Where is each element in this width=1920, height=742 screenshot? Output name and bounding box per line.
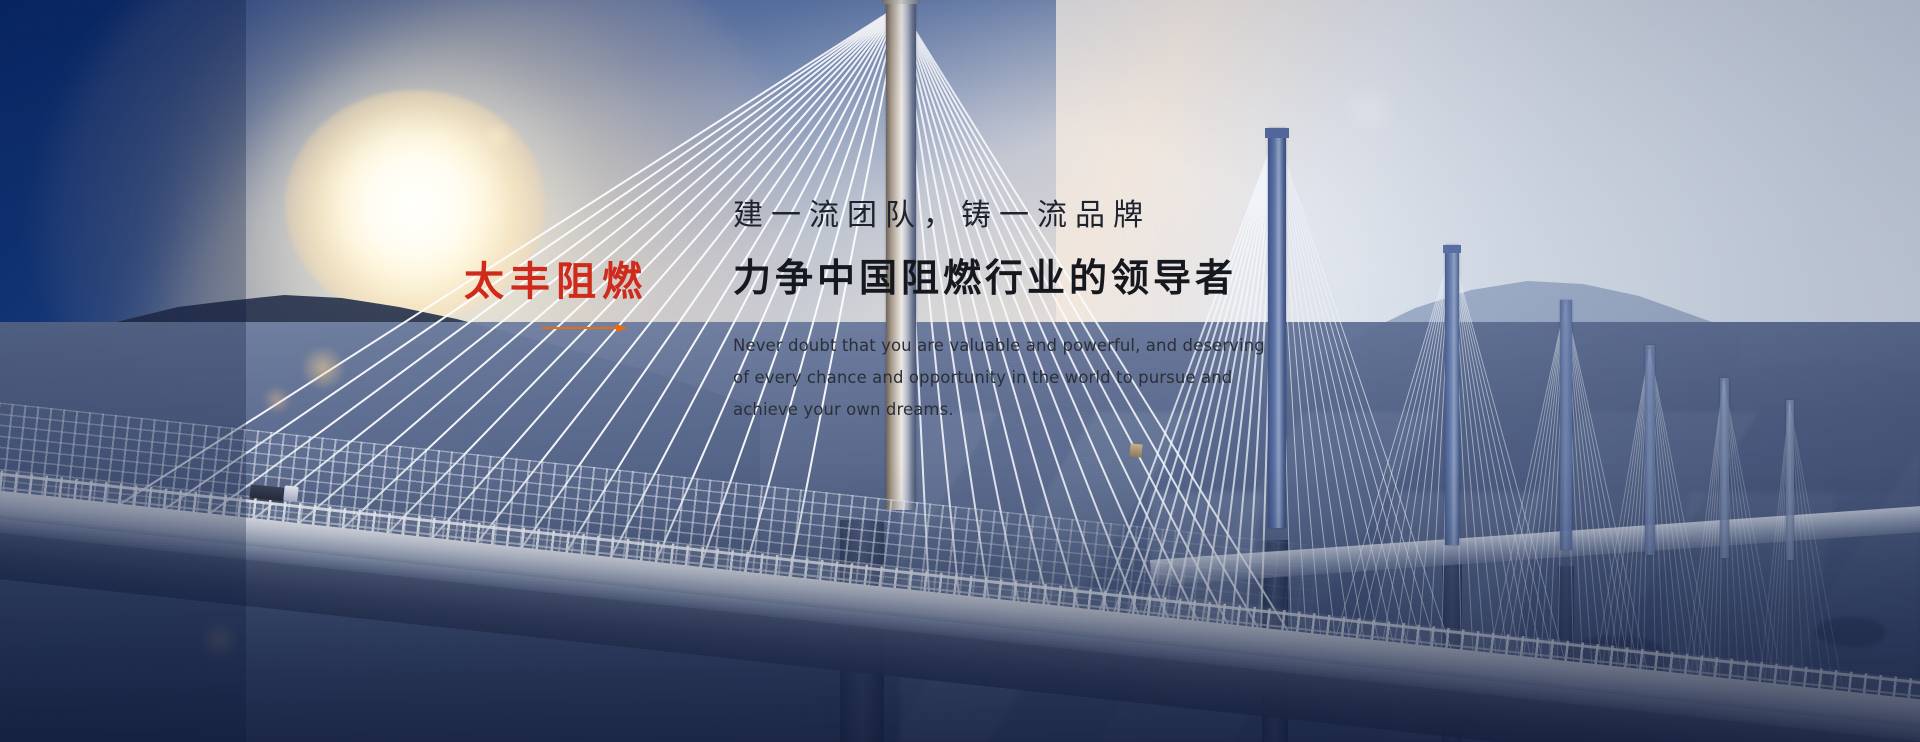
- headline-subtitle: 建一流团队，铸一流品牌: [733, 198, 1353, 234]
- description-line-1: Never doubt that you are valuable and po…: [733, 330, 1353, 362]
- banner-copy: 建一流团队，铸一流品牌 力争中国阻燃行业的领导者 Never doubt tha…: [733, 198, 1353, 426]
- description-line-2: of every chance and opportunity in the w…: [733, 362, 1353, 394]
- banner-content: 太丰阻燃 建一流团队，铸一流品牌 力争中国阻燃行业的领导者 Never doub…: [0, 0, 1920, 742]
- arrow-head: [616, 324, 628, 332]
- arrow-right-icon: [542, 323, 628, 333]
- brand-logo-text: 太丰阻燃: [464, 262, 664, 302]
- banner-description: Never doubt that you are valuable and po…: [733, 330, 1353, 427]
- headline-title: 力争中国阻燃行业的领导者: [733, 257, 1353, 301]
- description-line-3: achieve your own dreams.: [733, 394, 1353, 426]
- arrow-shaft: [542, 327, 620, 329]
- hero-banner: 太丰阻燃 建一流团队，铸一流品牌 力争中国阻燃行业的领导者 Never doub…: [0, 0, 1920, 742]
- brand-logo[interactable]: 太丰阻燃: [464, 262, 664, 333]
